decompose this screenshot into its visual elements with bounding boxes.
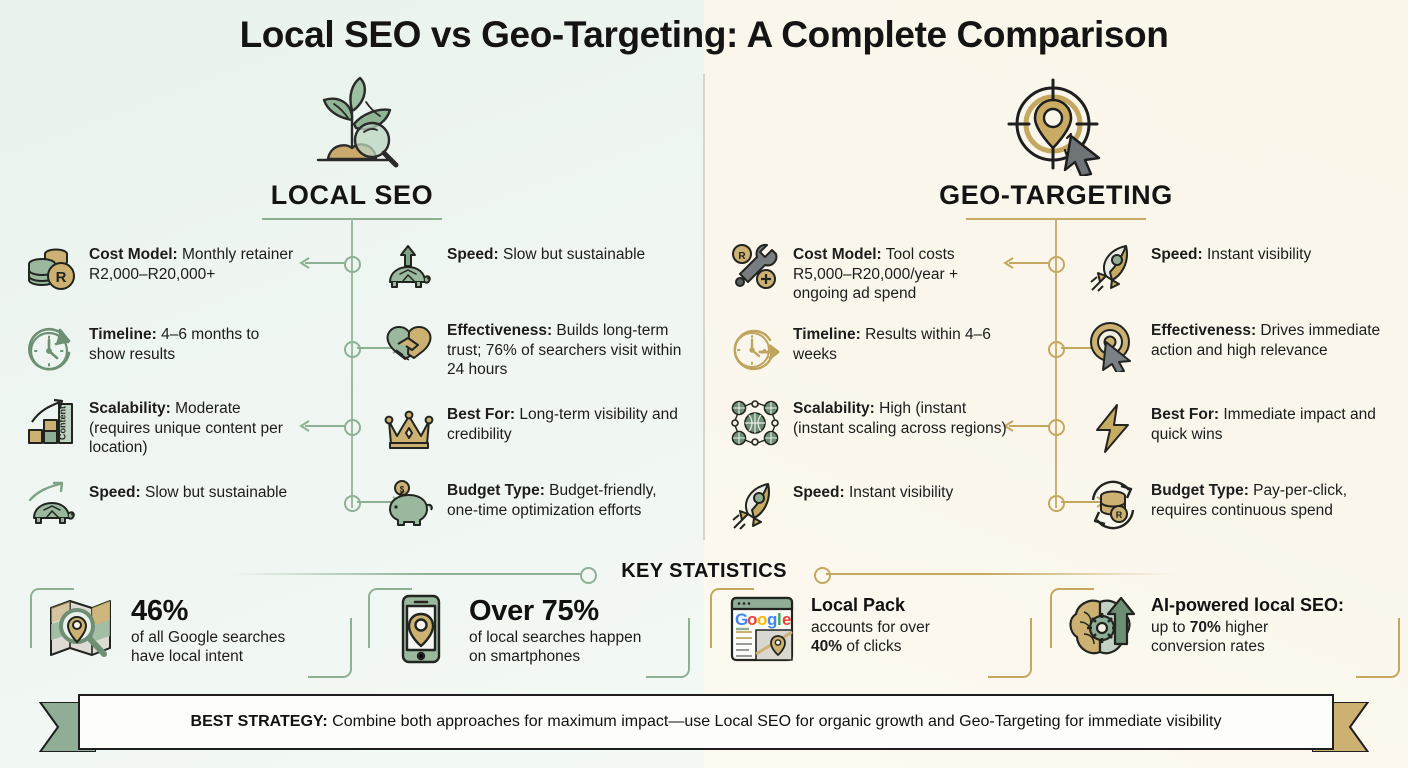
crown-icon xyxy=(382,402,436,456)
piggy-bank-icon: $ xyxy=(382,478,436,532)
feature-row: Best For: Immediate impact and quick win… xyxy=(1086,402,1386,456)
rocket-icon xyxy=(728,480,782,534)
connector-node xyxy=(1048,341,1065,358)
connector-spine-right xyxy=(1055,218,1057,508)
column-header-geo-targeting: GEO-TARGETING xyxy=(880,74,1232,220)
connector-node xyxy=(344,341,361,358)
feature-label: Speed: xyxy=(793,484,845,501)
svg-text:R: R xyxy=(56,269,67,286)
stat-line-1: accounts for over xyxy=(811,619,930,636)
feature-label: Cost Model: xyxy=(793,246,882,263)
stat-highlight: 40% xyxy=(811,638,842,655)
feature-label: Best For: xyxy=(447,406,515,423)
clock-arrow-icon xyxy=(24,322,78,376)
connector-node xyxy=(1048,495,1065,512)
connector-spine-left xyxy=(351,218,353,508)
feature-row: R Budget Type: Pay-per-click, requires c… xyxy=(1086,478,1390,532)
feature-text: Scalability: Moderate (requires unique c… xyxy=(89,396,298,458)
feature-text: Cost Model: Monthly retainer R2,000–R20,… xyxy=(89,242,294,284)
svg-text:o: o xyxy=(747,610,757,629)
stat-line-1: of local searches happen xyxy=(469,629,641,646)
feature-row: Timeline: Results within 4–6 weeks xyxy=(728,322,1016,376)
feature-body: Instant visibility xyxy=(845,484,954,501)
stat-line-2: of clicks xyxy=(842,638,901,655)
svg-text:e: e xyxy=(782,610,791,629)
feature-row: Speed: Slow but sustainable xyxy=(382,242,682,296)
connector-arm xyxy=(305,425,345,427)
connector-arrow-left-icon xyxy=(299,420,311,432)
stat-card: Google Local Pack accounts for over 40% … xyxy=(710,588,1032,678)
feature-text: Speed: Instant visibility xyxy=(793,480,953,503)
feature-text: Speed: Instant visibility xyxy=(1151,242,1311,265)
feature-label: Effectiveness: xyxy=(447,322,552,339)
feature-label: Scalability: xyxy=(793,400,875,417)
feature-label: Effectiveness: xyxy=(1151,322,1256,339)
feature-row: Speed: Instant visibility xyxy=(728,480,1016,534)
click-target-cursor-icon xyxy=(1086,318,1140,372)
key-statistics-heading: KEY STATISTICS xyxy=(0,560,1408,583)
connector-arm xyxy=(305,262,345,264)
stat-line-1: up to xyxy=(1151,619,1190,636)
ribbon-label: BEST STRATEGY: xyxy=(191,713,328,730)
feature-row: Speed: Slow but sustainable xyxy=(24,480,294,534)
feature-label: Budget Type: xyxy=(1151,482,1249,499)
wrench-rand-icon: R xyxy=(728,242,782,296)
feature-label: Speed: xyxy=(89,484,141,501)
page-title: Local SEO vs Geo-Targeting: A Complete C… xyxy=(0,14,1408,56)
map-magnifier-icon xyxy=(46,592,118,668)
stat-card: 46% of all Google searches have local in… xyxy=(30,588,352,678)
ribbon-message: Combine both approaches for maximum impa… xyxy=(328,713,1222,730)
stat-card: AI-powered local SEO: up to 70% higher c… xyxy=(1050,588,1400,678)
column-title-left: LOCAL SEO xyxy=(176,180,528,211)
handshake-icon xyxy=(382,318,436,372)
stat-title: Local Pack xyxy=(811,596,930,616)
connector-node xyxy=(344,256,361,273)
feature-row: R Cost Model: Tool costs R5,000–R20,000/… xyxy=(728,242,1016,304)
stat-title: AI-powered local SEO: xyxy=(1151,596,1344,616)
feature-row: Effectiveness: Drives immediate action a… xyxy=(1086,318,1386,372)
feature-text: Best For: Long-term visibility and credi… xyxy=(447,402,682,444)
svg-text:R: R xyxy=(1116,510,1123,520)
stat-line-2: on smartphones xyxy=(469,648,580,665)
stat-value: 46% xyxy=(131,596,285,626)
brain-gear-arrow-icon xyxy=(1066,592,1138,668)
globe-network-icon xyxy=(728,396,782,450)
coins-rand-icon: R xyxy=(24,242,78,296)
infographic-canvas: Local SEO vs Geo-Targeting: A Complete C… xyxy=(0,0,1408,768)
feature-label: Scalability: xyxy=(89,400,171,417)
turtle-arrow-up-icon xyxy=(382,242,436,296)
feature-text: Best For: Immediate impact and quick win… xyxy=(1151,402,1386,444)
feature-text: Scalability: High (instant (instant scal… xyxy=(793,396,1018,438)
feature-text: Effectiveness: Builds long-term trust; 7… xyxy=(447,318,682,380)
feature-label: Best For: xyxy=(1151,406,1219,423)
feature-label: Speed: xyxy=(447,246,499,263)
feature-text: Timeline: Results within 4–6 weeks xyxy=(793,322,1016,364)
stat-value: Over 75% xyxy=(469,596,641,626)
feature-row: Timeline: 4–6 months to show results xyxy=(24,322,294,376)
coins-refresh-icon: R xyxy=(1086,478,1140,532)
stat-card: Over 75% of local searches happen on sma… xyxy=(368,588,690,678)
connector-node xyxy=(1048,256,1065,273)
stat-description: accounts for over 40% of clicks xyxy=(811,618,930,656)
ribbon-body: BEST STRATEGY: Combine both approaches f… xyxy=(78,694,1334,750)
svg-text:R: R xyxy=(738,251,746,262)
feature-text: Speed: Slow but sustainable xyxy=(447,242,645,265)
feature-text: Speed: Slow but sustainable xyxy=(89,480,287,503)
svg-text:Content: Content xyxy=(58,406,68,440)
feature-text: Budget Type: Pay-per-click, requires con… xyxy=(1151,478,1390,520)
turtle-icon xyxy=(24,480,78,534)
feature-row: R Cost Model: Monthly retainer R2,000–R2… xyxy=(24,242,294,296)
stat-line-1b: higher xyxy=(1221,619,1268,636)
google-serp-icon: Google xyxy=(726,592,798,668)
feature-label: Budget Type: xyxy=(447,482,545,499)
stat-description: of local searches happen on smartphones xyxy=(469,628,641,666)
connector-node xyxy=(344,419,361,436)
feature-row: Speed: Instant visibility xyxy=(1086,242,1386,296)
target-pin-cursor-icon xyxy=(880,74,1232,178)
best-strategy-ribbon: BEST STRATEGY: Combine both approaches f… xyxy=(0,694,1408,768)
feature-label: Timeline: xyxy=(89,326,157,343)
ribbon-text: BEST STRATEGY: Combine both approaches f… xyxy=(191,713,1222,731)
rocket-icon xyxy=(1086,242,1140,296)
center-divider xyxy=(703,74,705,540)
feature-body: Slow but sustainable xyxy=(499,246,645,263)
stat-line-1: of all Google searches xyxy=(131,629,285,646)
clock-fast-forward-icon xyxy=(728,322,782,376)
stat-line-2: have local intent xyxy=(131,648,243,665)
feature-body: Slow but sustainable xyxy=(141,484,287,501)
key-statistics-dot-right xyxy=(814,567,831,584)
stat-highlight: 70% xyxy=(1190,619,1221,636)
feature-body: Instant visibility xyxy=(1203,246,1312,263)
feature-label: Cost Model: xyxy=(89,246,178,263)
feature-text: Timeline: 4–6 months to show results xyxy=(89,322,294,364)
feature-row: Content Scalability: Moderate (requires … xyxy=(24,396,298,458)
column-title-right: GEO-TARGETING xyxy=(880,180,1232,211)
connector-node xyxy=(1048,419,1065,436)
stat-description: of all Google searches have local intent xyxy=(131,628,285,666)
smartphone-pin-icon xyxy=(384,592,456,668)
feature-text: Budget Type: Budget-friendly, one-time o… xyxy=(447,478,688,520)
feature-row: $ Budget Type: Budget-friendly, one-time… xyxy=(382,478,688,532)
svg-text:g: g xyxy=(767,610,777,629)
lightning-bolt-icon xyxy=(1086,402,1140,456)
feature-row: Best For: Long-term visibility and credi… xyxy=(382,402,682,456)
svg-text:o: o xyxy=(757,610,767,629)
feature-row: Effectiveness: Builds long-term trust; 7… xyxy=(382,318,682,380)
connector-node xyxy=(344,495,361,512)
feature-row: Scalability: High (instant (instant scal… xyxy=(728,396,1018,450)
column-header-local-seo: LOCAL SEO xyxy=(176,74,528,220)
feature-label: Timeline: xyxy=(793,326,861,343)
feature-label: Speed: xyxy=(1151,246,1203,263)
stat-line-2: conversion rates xyxy=(1151,638,1265,655)
stat-description: up to 70% higher conversion rates xyxy=(1151,618,1344,656)
feature-text: Cost Model: Tool costs R5,000–R20,000/ye… xyxy=(793,242,1016,304)
feature-text: Effectiveness: Drives immediate action a… xyxy=(1151,318,1386,360)
connector-arrow-left-icon xyxy=(299,257,311,269)
key-statistics-rule-right xyxy=(826,573,1176,575)
content-bar-chart-icon: Content xyxy=(24,396,78,450)
seedling-magnifier-icon xyxy=(176,74,528,178)
